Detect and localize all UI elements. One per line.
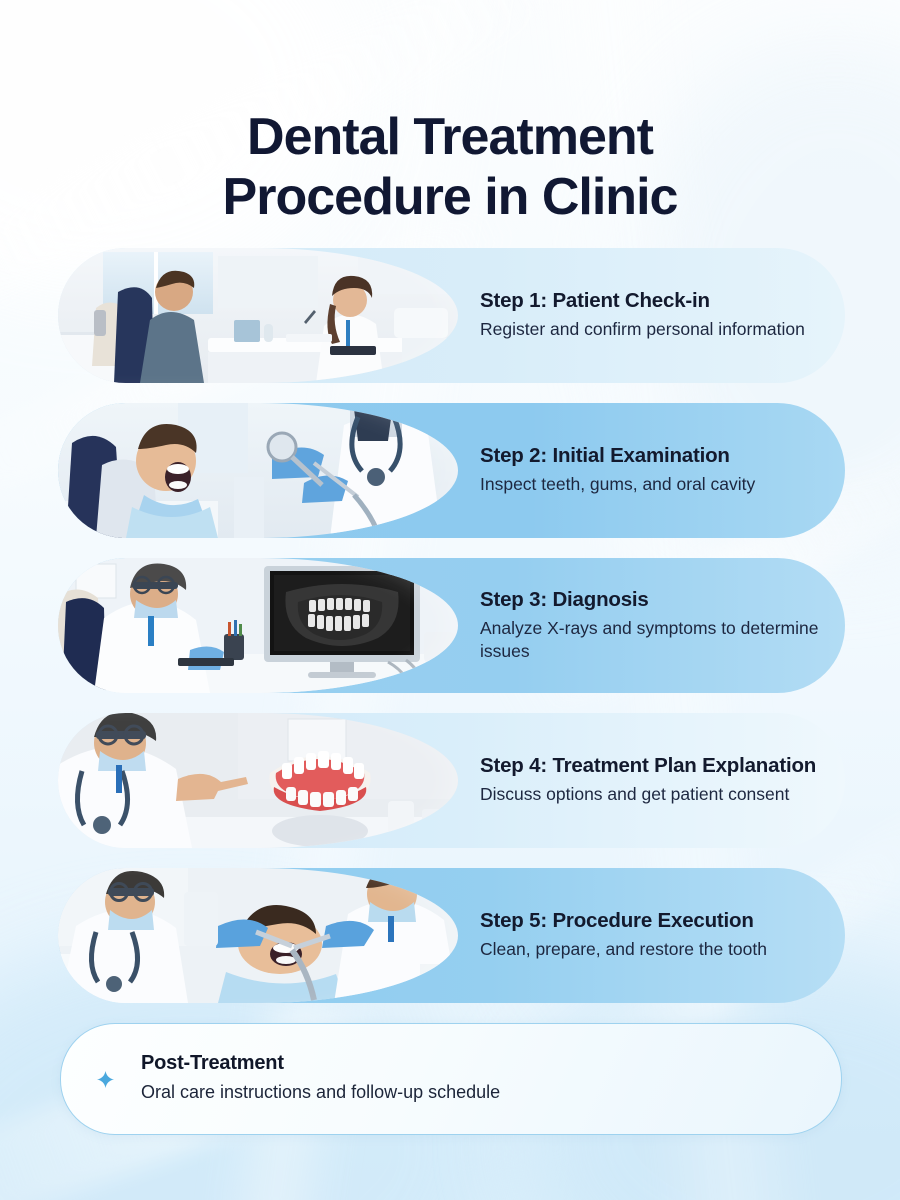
page-title-line-1: Dental Treatment bbox=[0, 107, 900, 167]
step-title-3: Step 3: Diagnosis bbox=[480, 588, 835, 612]
step-row-5[interactable]: Step 5: Procedure Execution Clean, prepa… bbox=[58, 868, 848, 1003]
step-text-1: Step 1: Patient Check-in Register and co… bbox=[480, 248, 805, 383]
page-title: Dental Treatment Procedure in Clinic bbox=[0, 107, 900, 228]
step-row-3[interactable]: Step 3: Diagnosis Analyze X-rays and sym… bbox=[58, 558, 848, 693]
page-title-line-2: Procedure in Clinic bbox=[0, 167, 900, 227]
step-description-4: Discuss options and get patient consent bbox=[480, 783, 800, 806]
step-thumbnail-5 bbox=[58, 868, 458, 1003]
step-thumbnail-1 bbox=[58, 248, 458, 383]
step-title-4: Step 4: Treatment Plan Explanation bbox=[480, 754, 816, 778]
post-treatment-description: Oral care instructions and follow-up sch… bbox=[141, 1082, 500, 1103]
step-description-5: Clean, prepare, and restore the tooth bbox=[480, 938, 767, 961]
step-thumbnail-2 bbox=[58, 403, 458, 538]
step-text-4: Step 4: Treatment Plan Explanation Discu… bbox=[480, 713, 816, 848]
step-image-3 bbox=[58, 558, 458, 693]
step-description-2: Inspect teeth, gums, and oral cavity bbox=[480, 473, 755, 496]
step-image-2 bbox=[58, 403, 458, 538]
step-row-1[interactable]: Step 1: Patient Check-in Register and co… bbox=[58, 248, 848, 383]
steps-list: Step 1: Patient Check-in Register and co… bbox=[58, 248, 848, 1023]
step-image-4 bbox=[58, 713, 458, 848]
step-title-2: Step 2: Initial Examination bbox=[480, 444, 755, 468]
post-treatment-title: Post-Treatment bbox=[141, 1052, 500, 1075]
diamond-icon bbox=[97, 1071, 114, 1088]
step-thumbnail-4 bbox=[58, 713, 458, 848]
poster-root: Dental Treatment Procedure in Clinic bbox=[0, 0, 900, 1200]
step-description-1: Register and confirm personal informatio… bbox=[480, 318, 805, 341]
step-title-1: Step 1: Patient Check-in bbox=[480, 289, 805, 313]
step-text-3: Step 3: Diagnosis Analyze X-rays and sym… bbox=[480, 558, 835, 693]
post-treatment-card[interactable]: Post-Treatment Oral care instructions an… bbox=[60, 1023, 842, 1135]
step-image-1 bbox=[58, 248, 458, 383]
step-description-3: Analyze X-rays and symptoms to determine… bbox=[480, 617, 835, 663]
step-row-2[interactable]: Step 2: Initial Examination Inspect teet… bbox=[58, 403, 848, 538]
step-text-2: Step 2: Initial Examination Inspect teet… bbox=[480, 403, 755, 538]
step-image-5 bbox=[58, 868, 458, 1003]
step-title-5: Step 5: Procedure Execution bbox=[480, 909, 767, 933]
step-text-5: Step 5: Procedure Execution Clean, prepa… bbox=[480, 868, 767, 1003]
step-thumbnail-3 bbox=[58, 558, 458, 693]
step-row-4[interactable]: Step 4: Treatment Plan Explanation Discu… bbox=[58, 713, 848, 848]
post-treatment-text: Post-Treatment Oral care instructions an… bbox=[141, 1052, 500, 1103]
